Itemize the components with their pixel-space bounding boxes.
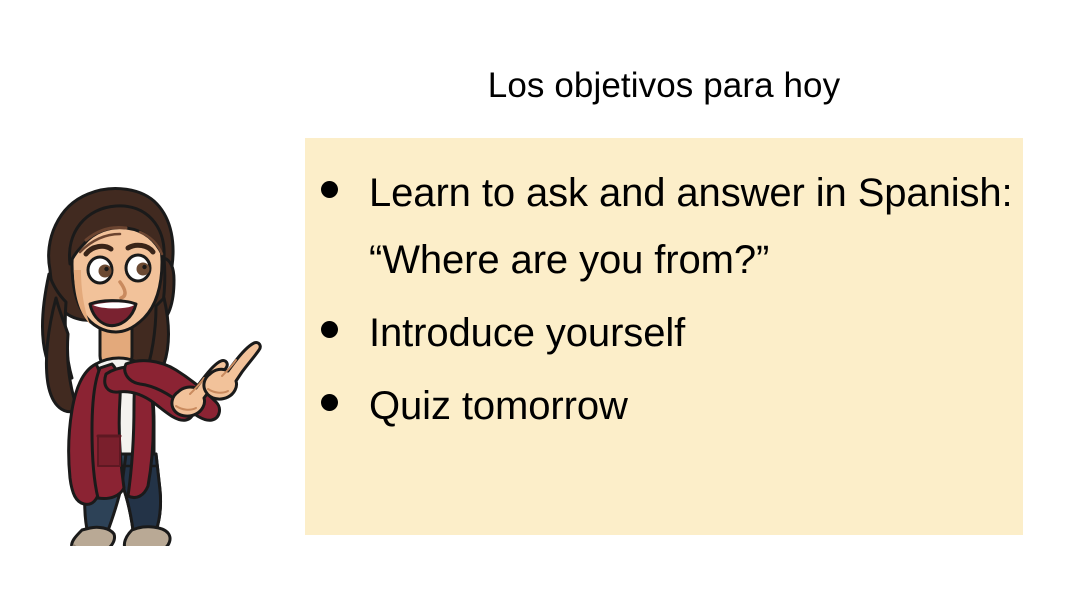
list-item-label: Learn to ask and answer in Spanish: “Whe…: [338, 160, 1013, 294]
list-item: Learn to ask and answer in Spanish: “Whe…: [321, 160, 1013, 294]
page-title: Los objetivos para hoy: [305, 64, 1023, 108]
slide-canvas: Los objetivos para hoy: [0, 0, 1080, 607]
bullet-icon: [321, 394, 338, 411]
bullet-icon: [321, 181, 338, 198]
list-item-label: Quiz tomorrow: [338, 373, 1013, 440]
list-item-label: Introduce yourself: [338, 300, 1013, 367]
list-item: Quiz tomorrow: [321, 373, 1013, 440]
objectives-list: Learn to ask and answer in Spanish: “Whe…: [321, 160, 1013, 446]
objectives-content-box: Learn to ask and answer in Spanish: “Whe…: [305, 138, 1023, 535]
list-item: Introduce yourself: [321, 300, 1013, 367]
bullet-icon: [321, 321, 338, 338]
bitmoji-avatar-image: [14, 178, 264, 546]
